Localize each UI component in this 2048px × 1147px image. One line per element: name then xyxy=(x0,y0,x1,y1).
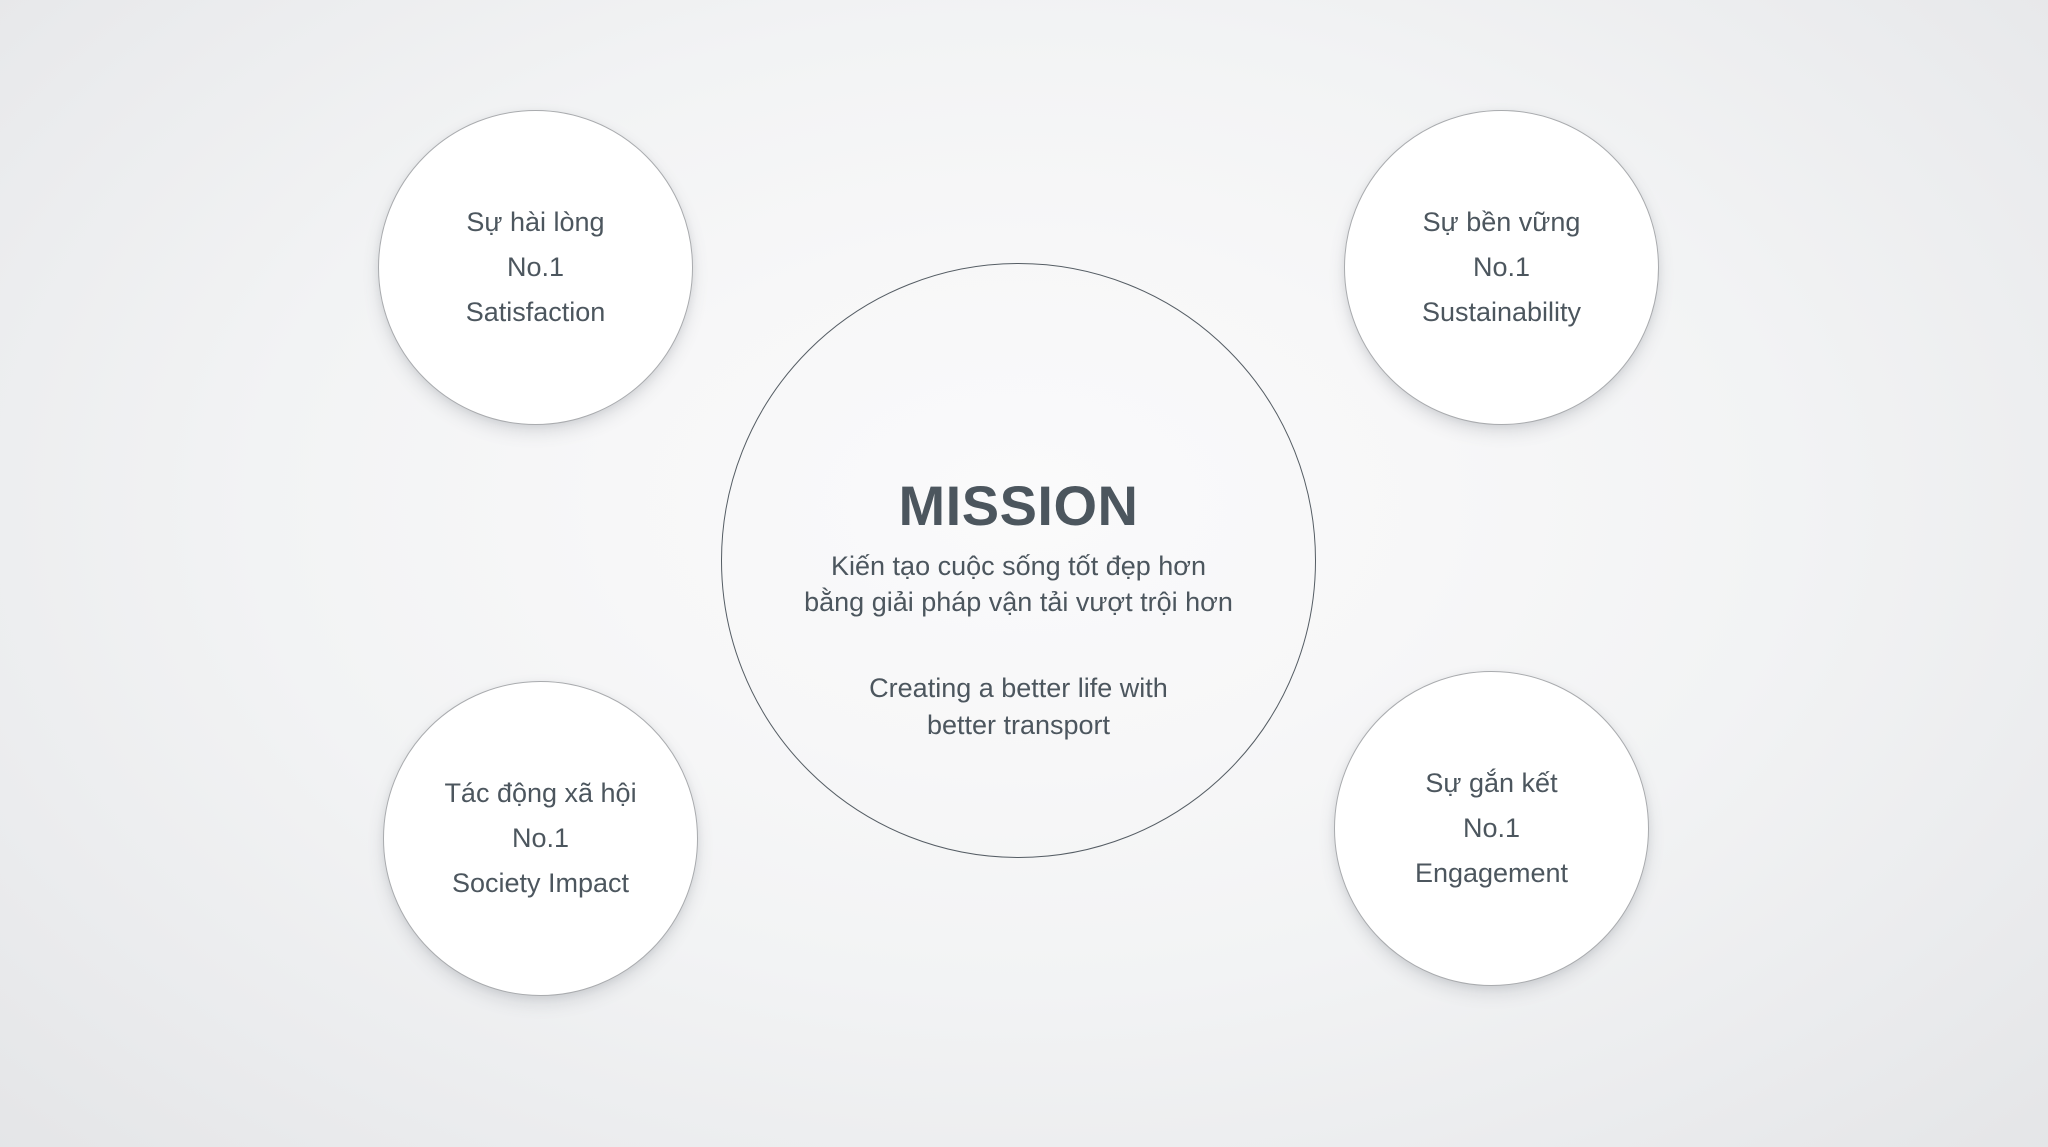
value-label-en: Sustainability xyxy=(1422,290,1581,335)
value-rank: No.1 xyxy=(1463,806,1520,851)
value-label-en: Engagement xyxy=(1415,851,1568,896)
mission-circle: MISSION Kiến tạo cuộc sống tốt đẹp hơn b… xyxy=(721,263,1316,858)
value-rank: No.1 xyxy=(512,816,569,861)
value-label-vi: Sự bền vững xyxy=(1423,200,1581,245)
value-circle-satisfaction[interactable]: Sự hài lòng No.1 Satisfaction xyxy=(378,110,693,425)
value-label-vi: Tác động xã hội xyxy=(444,771,636,816)
mission-values-slide: MISSION Kiến tạo cuộc sống tốt đẹp hơn b… xyxy=(0,0,2048,1147)
value-label-en: Society Impact xyxy=(452,861,629,906)
value-label-en: Satisfaction xyxy=(466,290,606,335)
mission-vi-line-1: Kiến tạo cuộc sống tốt đẹp hơn xyxy=(804,548,1233,584)
value-rank: No.1 xyxy=(507,245,564,290)
value-circle-sustainability[interactable]: Sự bền vững No.1 Sustainability xyxy=(1344,110,1659,425)
value-circle-society-impact[interactable]: Tác động xã hội No.1 Society Impact xyxy=(383,681,698,996)
mission-vi-line-2: bằng giải pháp vận tải vượt trội hơn xyxy=(804,584,1233,620)
mission-en-line-2: better transport xyxy=(869,707,1168,743)
mission-statement-english: Creating a better life with better trans… xyxy=(869,670,1168,742)
mission-title: MISSION xyxy=(899,478,1139,534)
mission-statement-vietnamese: Kiến tạo cuộc sống tốt đẹp hơn bằng giải… xyxy=(804,548,1233,620)
value-circle-engagement[interactable]: Sự gắn kết No.1 Engagement xyxy=(1334,671,1649,986)
value-label-vi: Sự gắn kết xyxy=(1425,761,1557,806)
value-rank: No.1 xyxy=(1473,245,1530,290)
value-label-vi: Sự hài lòng xyxy=(466,200,604,245)
mission-en-line-1: Creating a better life with xyxy=(869,670,1168,706)
